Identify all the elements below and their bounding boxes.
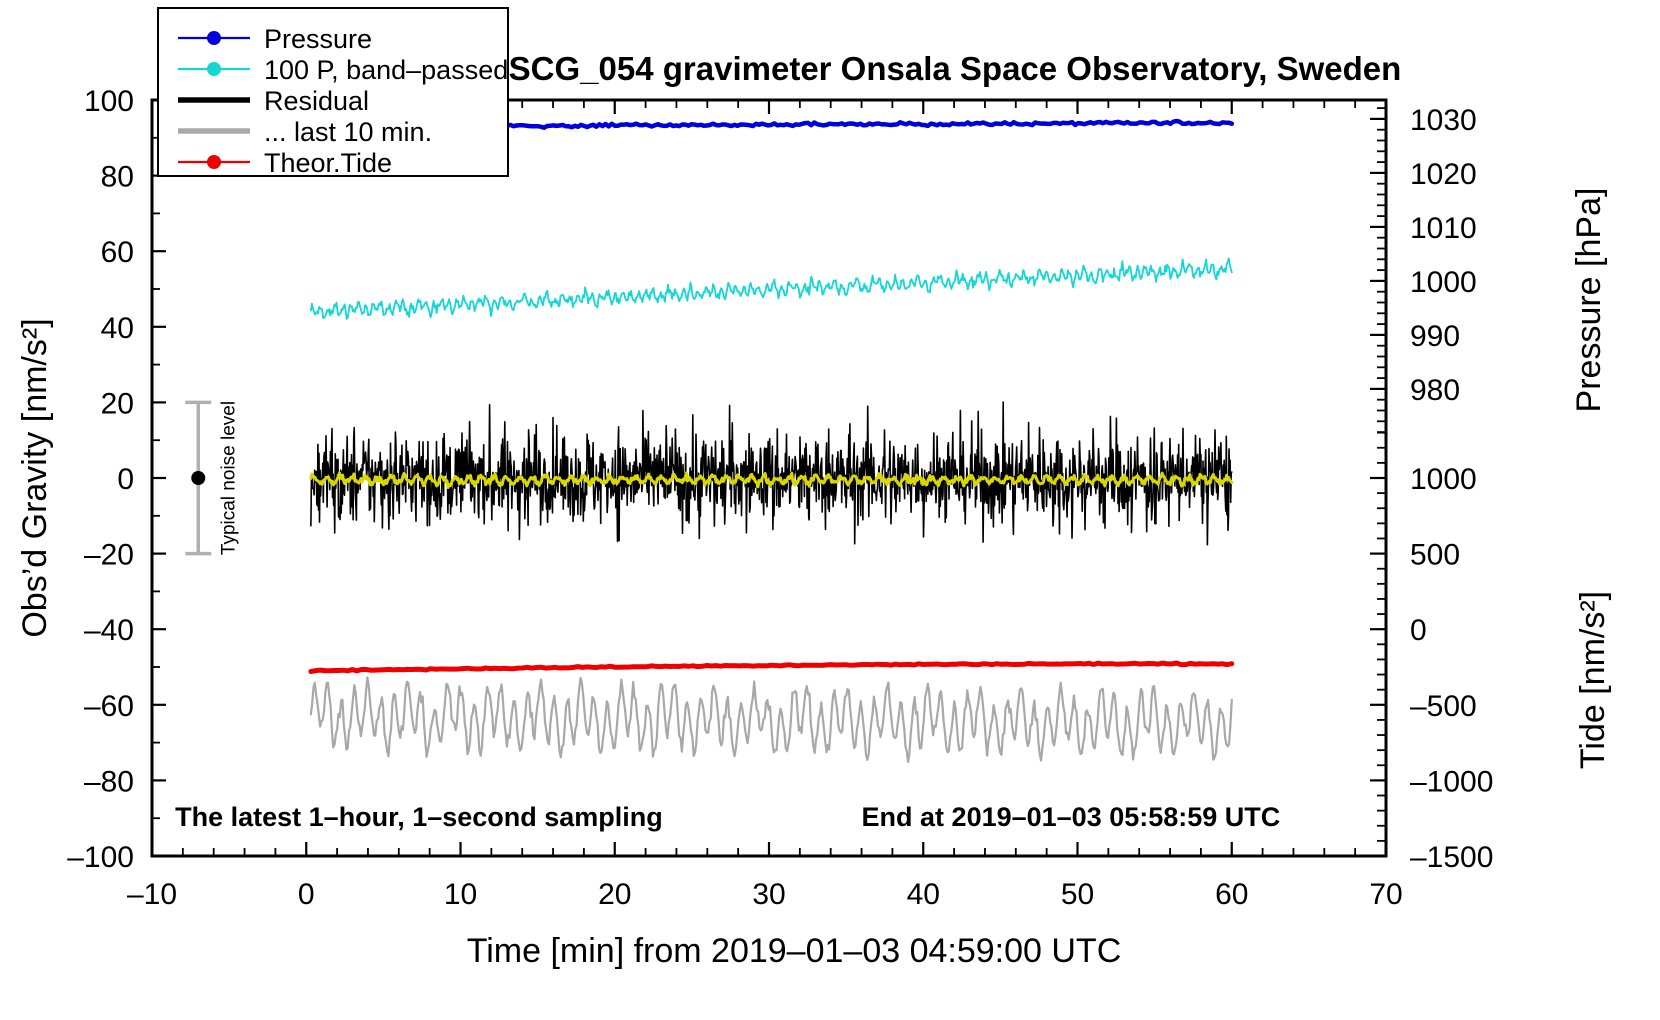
x-tick-label: 30 [752,878,785,911]
plot-annotation-0: The latest 1–hour, 1–second sampling [175,802,663,832]
tide-tick-label: 0 [1410,614,1427,647]
x-tick-label: 0 [298,878,315,911]
chart-title: SCG_054 gravimeter Onsala Space Observat… [509,50,1402,87]
y-tick-label: –20 [84,539,134,572]
y-tick-label: –100 [67,841,134,874]
legend-swatch-marker-1 [207,62,221,76]
tide-tick-label: 500 [1410,539,1460,572]
pressure-tick-label: 990 [1410,320,1460,353]
x-tick-label: 50 [1061,878,1094,911]
legend-label-2: Residual [264,86,369,116]
legend-swatch-marker-4 [207,155,221,169]
x-tick-label: 10 [444,878,477,911]
pressure-axis-title: Pressure [hPa] [1570,188,1608,413]
plot-annotation-1: End at 2019–01–03 05:58:59 UTC [862,802,1281,832]
chart-canvas: –10010203040506070Time [min] from 2019–0… [0,0,1660,1020]
legend-label-1: 100 P, band–passed [264,55,508,85]
x-tick-label: 20 [598,878,631,911]
tide-tick-label: 1000 [1410,463,1477,496]
y-tick-label: –80 [84,765,134,798]
pressure-tick-label: 1020 [1410,158,1477,191]
y-tick-label: 20 [101,387,134,420]
y-tick-label: 80 [101,161,134,194]
pressure-tick-label: 1030 [1410,104,1477,137]
x-tick-label: –10 [127,878,177,911]
y-axis-title: Obs’d Gravity [nm/s²] [16,318,54,637]
legend-label-3: ... last 10 min. [264,117,432,147]
tide-tick-label: –1000 [1410,765,1493,798]
legend-swatch-marker-0 [207,31,221,45]
tide-tick-label: –500 [1410,690,1477,723]
noise-level-dot [191,471,205,485]
y-tick-label: –40 [84,614,134,647]
x-tick-label: 70 [1369,878,1402,911]
legend-label-4: Theor.Tide [264,148,392,178]
trace-100-p-band-passed [311,258,1232,319]
y-tick-label: 60 [101,236,134,269]
trace-residual [311,402,1232,545]
noise-level-label: Typical noise level [218,401,239,555]
x-tick-label: 60 [1215,878,1248,911]
y-tick-label: 0 [117,463,134,496]
legend-label-0: Pressure [264,24,372,54]
x-axis-title: Time [min] from 2019–01–03 04:59:00 UTC [467,932,1122,970]
tide-axis-title: Tide [nm/s²] [1574,591,1612,769]
y-tick-label: –60 [84,690,134,723]
trace-theor-tide [311,663,1232,672]
tide-tick-label: –1500 [1410,841,1493,874]
y-tick-label: 100 [84,85,134,118]
pressure-tick-label: 1010 [1410,212,1477,245]
y-tick-label: 40 [101,312,134,345]
x-tick-label: 40 [907,878,940,911]
pressure-tick-label: 980 [1410,374,1460,407]
gravimeter-chart-figure: –10010203040506070Time [min] from 2019–0… [0,0,1660,1020]
trace-last-10-min [311,677,1232,762]
pressure-tick-label: 1000 [1410,266,1477,299]
